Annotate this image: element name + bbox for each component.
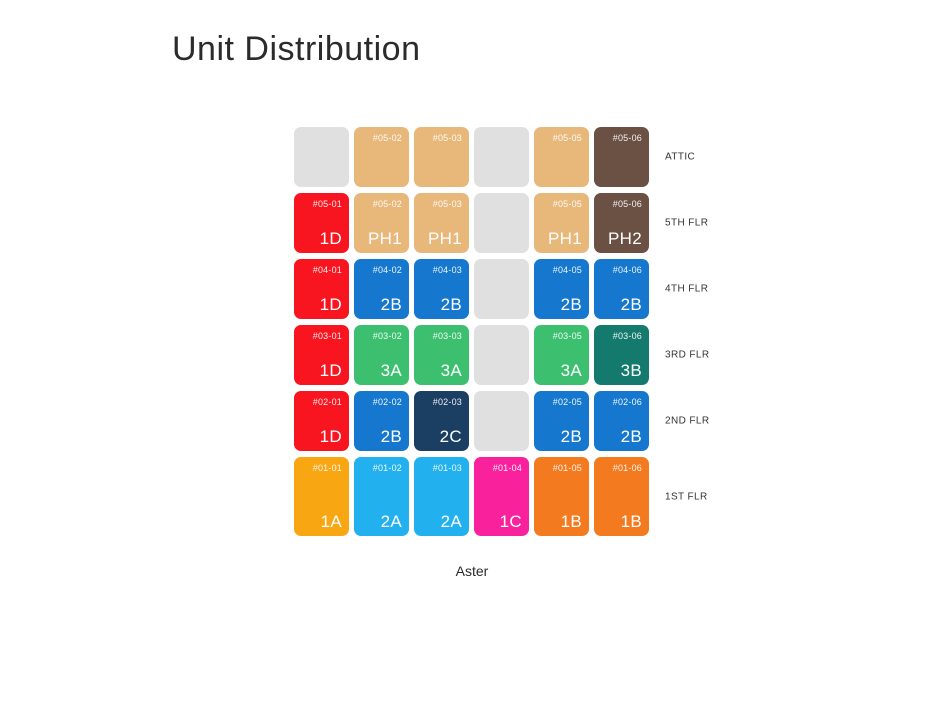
unit-code-label: #04-01 bbox=[313, 265, 342, 275]
unit-cell[interactable]: #04-032B bbox=[414, 259, 469, 319]
unit-code-label: #04-05 bbox=[553, 265, 582, 275]
unit-type-label: 2C bbox=[440, 427, 462, 447]
unit-type-label: 3B bbox=[621, 361, 642, 381]
unit-code-label: #03-01 bbox=[313, 331, 342, 341]
floor-label: 5TH FLR bbox=[665, 218, 708, 229]
unit-cell[interactable]: #05-03PH1 bbox=[414, 193, 469, 253]
unit-type-label: 2B bbox=[381, 295, 402, 315]
unit-code-label: #05-03 bbox=[433, 199, 462, 209]
unit-cell-empty bbox=[294, 127, 349, 187]
unit-code-label: #01-04 bbox=[493, 463, 522, 473]
unit-type-label: PH1 bbox=[548, 229, 582, 249]
unit-code-label: #03-06 bbox=[613, 331, 642, 341]
unit-cell[interactable]: #05-03 bbox=[414, 127, 469, 187]
unit-cell[interactable]: #03-033A bbox=[414, 325, 469, 385]
unit-cell-empty bbox=[474, 127, 529, 187]
unit-cell[interactable]: #05-06PH2 bbox=[594, 193, 649, 253]
floor-row: #05-011D#05-02PH1#05-03PH1#05-05PH1#05-0… bbox=[294, 193, 649, 253]
unit-cell[interactable]: #04-011D bbox=[294, 259, 349, 319]
unit-type-label: 2A bbox=[441, 512, 462, 532]
unit-code-label: #02-03 bbox=[433, 397, 462, 407]
unit-cell[interactable]: #01-022A bbox=[354, 457, 409, 536]
unit-type-label: 3A bbox=[441, 361, 462, 381]
unit-cell[interactable]: #01-061B bbox=[594, 457, 649, 536]
unit-code-label: #05-01 bbox=[313, 199, 342, 209]
floor-label: 1ST FLR bbox=[665, 491, 708, 502]
unit-cell[interactable]: #01-051B bbox=[534, 457, 589, 536]
unit-grid: #05-02#05-03#05-05#05-06ATTIC#05-011D#05… bbox=[294, 127, 649, 536]
unit-cell[interactable]: #02-062B bbox=[594, 391, 649, 451]
floor-label: ATTIC bbox=[665, 152, 695, 163]
unit-code-label: #05-02 bbox=[373, 199, 402, 209]
unit-distribution-page: Unit Distribution #05-02#05-03#05-05#05-… bbox=[0, 0, 943, 717]
unit-code-label: #03-05 bbox=[553, 331, 582, 341]
building-name-label: Aster bbox=[294, 563, 650, 579]
unit-type-label: 1D bbox=[320, 295, 342, 315]
unit-type-label: 1B bbox=[561, 512, 582, 532]
unit-cell[interactable]: #03-063B bbox=[594, 325, 649, 385]
unit-code-label: #02-06 bbox=[613, 397, 642, 407]
floor-row: #05-02#05-03#05-05#05-06ATTIC bbox=[294, 127, 649, 187]
unit-code-label: #02-02 bbox=[373, 397, 402, 407]
unit-type-label: 3A bbox=[381, 361, 402, 381]
unit-code-label: #05-06 bbox=[613, 133, 642, 143]
unit-code-label: #02-05 bbox=[553, 397, 582, 407]
unit-cell[interactable]: #01-041C bbox=[474, 457, 529, 536]
unit-cell[interactable]: #04-052B bbox=[534, 259, 589, 319]
floor-row: #04-011D#04-022B#04-032B#04-052B#04-062B… bbox=[294, 259, 649, 319]
unit-cell[interactable]: #03-023A bbox=[354, 325, 409, 385]
unit-code-label: #04-03 bbox=[433, 265, 462, 275]
unit-cell[interactable]: #01-032A bbox=[414, 457, 469, 536]
unit-cell[interactable]: #04-022B bbox=[354, 259, 409, 319]
unit-cell[interactable]: #03-011D bbox=[294, 325, 349, 385]
unit-cell[interactable]: #03-053A bbox=[534, 325, 589, 385]
unit-type-label: 1D bbox=[320, 427, 342, 447]
unit-cell[interactable]: #02-011D bbox=[294, 391, 349, 451]
unit-cell[interactable]: #05-05 bbox=[534, 127, 589, 187]
floor-row: #03-011D#03-023A#03-033A#03-053A#03-063B… bbox=[294, 325, 649, 385]
unit-type-label: 2B bbox=[441, 295, 462, 315]
unit-code-label: #05-02 bbox=[373, 133, 402, 143]
unit-code-label: #01-03 bbox=[433, 463, 462, 473]
unit-cell-empty bbox=[474, 193, 529, 253]
unit-code-label: #03-02 bbox=[373, 331, 402, 341]
unit-cell[interactable]: #02-052B bbox=[534, 391, 589, 451]
unit-cell[interactable]: #05-06 bbox=[594, 127, 649, 187]
unit-type-label: PH1 bbox=[368, 229, 402, 249]
unit-type-label: 1A bbox=[321, 512, 342, 532]
unit-code-label: #01-01 bbox=[313, 463, 342, 473]
unit-type-label: 1C bbox=[500, 512, 522, 532]
floor-label: 3RD FLR bbox=[665, 350, 709, 361]
unit-type-label: 2B bbox=[621, 295, 642, 315]
unit-code-label: #01-05 bbox=[553, 463, 582, 473]
unit-type-label: 1B bbox=[621, 512, 642, 532]
unit-code-label: #05-03 bbox=[433, 133, 462, 143]
unit-cell-empty bbox=[474, 325, 529, 385]
unit-code-label: #03-03 bbox=[433, 331, 462, 341]
unit-type-label: 2B bbox=[621, 427, 642, 447]
unit-type-label: 2A bbox=[381, 512, 402, 532]
unit-code-label: #05-05 bbox=[553, 199, 582, 209]
floor-label: 2ND FLR bbox=[665, 416, 709, 427]
unit-code-label: #04-06 bbox=[613, 265, 642, 275]
floor-row: #02-011D#02-022B#02-032C#02-052B#02-062B… bbox=[294, 391, 649, 451]
unit-cell[interactable]: #05-02 bbox=[354, 127, 409, 187]
unit-cell[interactable]: #02-032C bbox=[414, 391, 469, 451]
unit-cell-empty bbox=[474, 391, 529, 451]
unit-cell[interactable]: #01-011A bbox=[294, 457, 349, 536]
unit-cell[interactable]: #05-011D bbox=[294, 193, 349, 253]
unit-code-label: #04-02 bbox=[373, 265, 402, 275]
unit-code-label: #05-06 bbox=[613, 199, 642, 209]
unit-code-label: #01-06 bbox=[613, 463, 642, 473]
unit-cell[interactable]: #04-062B bbox=[594, 259, 649, 319]
unit-cell[interactable]: #02-022B bbox=[354, 391, 409, 451]
floor-row: #01-011A#01-022A#01-032A#01-041C#01-051B… bbox=[294, 457, 649, 536]
unit-type-label: 1D bbox=[320, 361, 342, 381]
unit-cell[interactable]: #05-02PH1 bbox=[354, 193, 409, 253]
unit-cell-empty bbox=[474, 259, 529, 319]
unit-type-label: 2B bbox=[381, 427, 402, 447]
unit-type-label: PH2 bbox=[608, 229, 642, 249]
unit-type-label: 2B bbox=[561, 295, 582, 315]
floor-label: 4TH FLR bbox=[665, 284, 708, 295]
page-title: Unit Distribution bbox=[172, 30, 420, 69]
unit-type-label: PH1 bbox=[428, 229, 462, 249]
unit-type-label: 1D bbox=[320, 229, 342, 249]
unit-cell[interactable]: #05-05PH1 bbox=[534, 193, 589, 253]
unit-code-label: #05-05 bbox=[553, 133, 582, 143]
unit-type-label: 2B bbox=[561, 427, 582, 447]
unit-code-label: #02-01 bbox=[313, 397, 342, 407]
unit-code-label: #01-02 bbox=[373, 463, 402, 473]
unit-type-label: 3A bbox=[561, 361, 582, 381]
